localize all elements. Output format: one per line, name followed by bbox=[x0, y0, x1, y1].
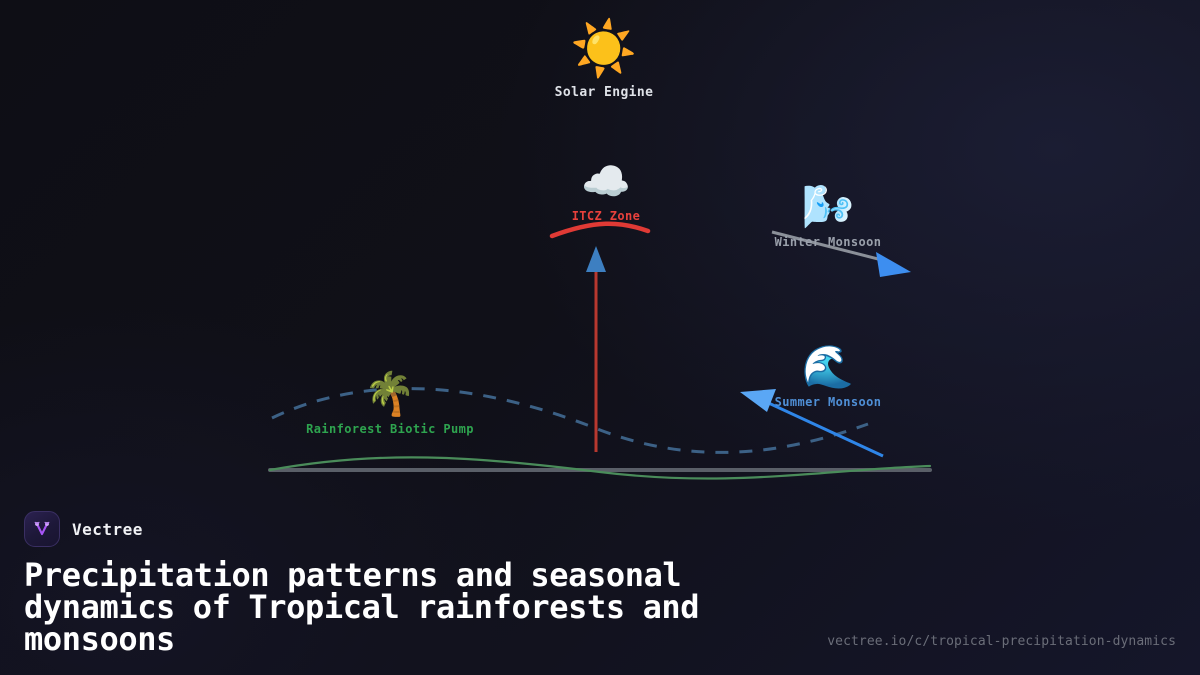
vectree-tree-logo-icon bbox=[32, 519, 52, 539]
itcz-red-arc bbox=[552, 224, 648, 236]
footer: Vectree Precipitation patterns and seaso… bbox=[0, 498, 1200, 675]
updraft-arrowhead-icon bbox=[586, 246, 606, 272]
node-solar-engine[interactable]: ☀️ Solar Engine bbox=[555, 22, 654, 100]
node-label-summer-monsoon: Summer Monsoon bbox=[775, 395, 882, 409]
canopy-green-curve bbox=[270, 457, 930, 478]
page-title: Precipitation patterns and seasonal dyna… bbox=[24, 559, 824, 655]
brand-row[interactable]: Vectree bbox=[24, 498, 1176, 547]
brand-name: Vectree bbox=[72, 520, 143, 539]
node-winter-monsoon[interactable]: 🌬️ Winter Monsoon bbox=[775, 186, 882, 249]
diagram-canvas: ☀️ Solar Engine ☁️ ITCZ Zone 🌬️ Winter M… bbox=[0, 0, 1200, 675]
summer-monsoon-arrowhead-icon bbox=[740, 389, 776, 412]
wind-face-icon: 🌬️ bbox=[775, 186, 882, 228]
palm-tree-icon: 🌴 bbox=[306, 373, 474, 415]
node-label-solar-engine: Solar Engine bbox=[555, 85, 654, 100]
vectree-logo[interactable] bbox=[24, 511, 60, 547]
node-summer-monsoon[interactable]: 🌊 Summer Monsoon bbox=[775, 346, 882, 409]
node-rainforest-biotic-pump[interactable]: 🌴 Rainforest Biotic Pump bbox=[306, 373, 474, 436]
source-url: vectree.io/c/tropical-precipitation-dyna… bbox=[827, 634, 1176, 649]
sun-icon: ☀️ bbox=[555, 22, 654, 76]
node-itcz-zone[interactable]: ☁️ ITCZ Zone bbox=[572, 162, 641, 223]
node-label-winter-monsoon: Winter Monsoon bbox=[775, 235, 882, 249]
wave-icon: 🌊 bbox=[775, 346, 882, 388]
winter-monsoon-arrowhead-icon bbox=[876, 252, 911, 277]
node-label-rainforest-biotic-pump: Rainforest Biotic Pump bbox=[306, 422, 474, 436]
cloud-icon: ☁️ bbox=[572, 162, 641, 202]
node-label-itcz-zone: ITCZ Zone bbox=[572, 209, 641, 223]
